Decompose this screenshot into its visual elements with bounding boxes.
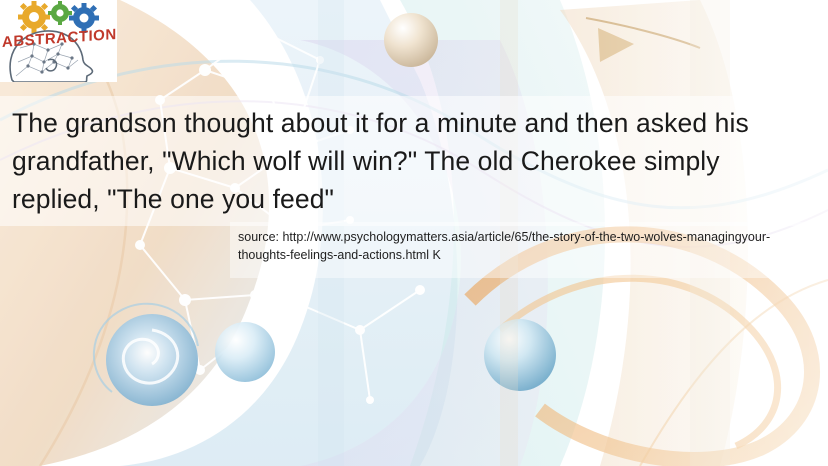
slide-body-text: The grandson thought about it for a minu… [12,104,812,218]
abstraction-logo: ABSTRACTION [0,0,117,82]
source-citation: source: http://www.psychologymatters.asi… [238,228,798,264]
slide-canvas: ABSTRACTION The grandson thought about i… [0,0,828,466]
